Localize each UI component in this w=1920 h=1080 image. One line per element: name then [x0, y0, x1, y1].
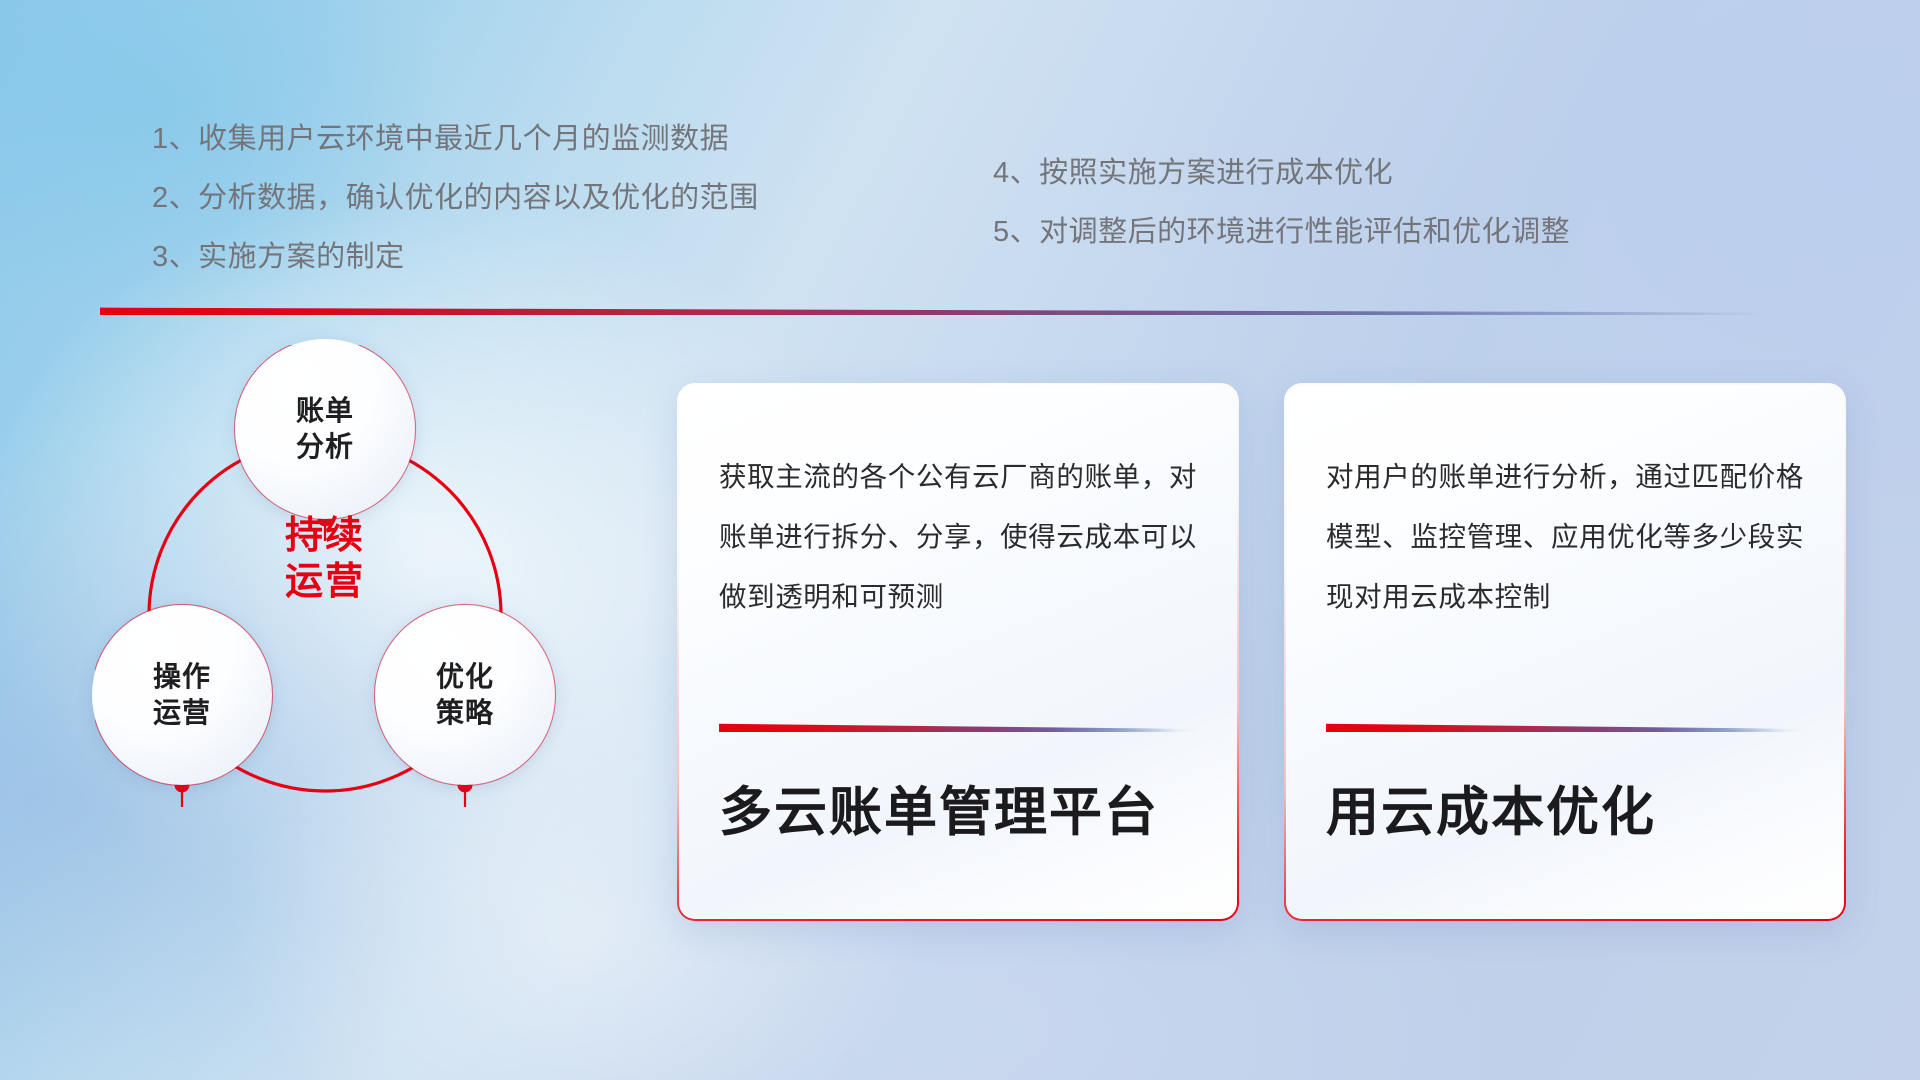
steps-left-column: 1、收集用户云环境中最近几个月的监测数据 2、分析数据，确认优化的内容以及优化的… [152, 125, 759, 302]
diagram-bubble-optimize-policy[interactable]: 优化 策略 [375, 605, 555, 785]
card-description: 对用户的账单进行分析，通过匹配价格模型、监控管理、应用优化等多少段实现对用云成本… [1326, 447, 1804, 685]
feature-card-multi-cloud-billing-platform[interactable]: 获取主流的各个公有云厂商的账单，对账单进行拆分、分享，使得云成本可以做到透明和可… [677, 383, 1239, 921]
feature-card-cloud-cost-optimization[interactable]: 对用户的账单进行分析，通过匹配价格模型、监控管理、应用优化等多少段实现对用云成本… [1284, 383, 1846, 921]
continuous-operation-diagram: 账单 分析 操作 运营 优化 策略 持续 运营 [95, 345, 655, 945]
bubble-label-line2: 策略 [436, 695, 494, 731]
step-item-3: 3、实施方案的制定 [152, 243, 759, 272]
card-description: 获取主流的各个公有云厂商的账单，对账单进行拆分、分享，使得云成本可以做到透明和可… [719, 447, 1197, 685]
step-item-5: 5、对调整后的环境进行性能评估和优化调整 [993, 218, 1570, 247]
center-label-line2: 运营 [245, 559, 405, 605]
diagram-bubble-ops-operation[interactable]: 操作 运营 [92, 605, 272, 785]
steps-right-column: 4、按照实施方案进行成本优化 5、对调整后的环境进行性能评估和优化调整 [993, 159, 1570, 277]
slide-content: 1、收集用户云环境中最近几个月的监测数据 2、分析数据，确认优化的内容以及优化的… [0, 0, 1920, 1080]
center-label-line1: 持续 [245, 513, 405, 559]
step-item-4: 4、按照实施方案进行成本优化 [993, 159, 1570, 188]
diagram-bubble-bill-analysis[interactable]: 账单 分析 [235, 339, 415, 519]
card-accent-rule [719, 723, 1197, 732]
bubble-label-line1: 操作 [153, 659, 211, 695]
section-divider-line [100, 306, 1765, 315]
diagram-center-label: 持续 运营 [245, 513, 405, 606]
step-item-2: 2、分析数据，确认优化的内容以及优化的范围 [152, 184, 759, 213]
card-inner: 对用户的账单进行分析，通过匹配价格模型、监控管理、应用优化等多少段实现对用云成本… [1286, 385, 1844, 919]
card-inner: 获取主流的各个公有云厂商的账单，对账单进行拆分、分享，使得云成本可以做到透明和可… [679, 385, 1237, 919]
card-title: 多云账单管理平台 [719, 784, 1197, 842]
step-item-1: 1、收集用户云环境中最近几个月的监测数据 [152, 125, 759, 154]
card-accent-rule [1326, 723, 1804, 732]
bubble-label-line1: 优化 [436, 659, 494, 695]
card-title: 用云成本优化 [1326, 784, 1804, 842]
bubble-label-line2: 分析 [296, 429, 354, 465]
bubble-label-line1: 账单 [296, 393, 354, 429]
bubble-label-line2: 运营 [153, 695, 211, 731]
